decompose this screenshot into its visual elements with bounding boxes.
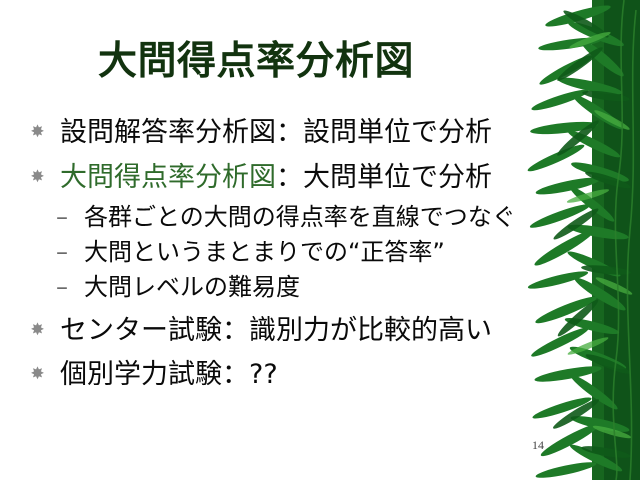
list-item: – 大問というまとまりでの“正答率”	[28, 237, 528, 267]
list-item-label: 個別学力試験：??	[60, 359, 278, 390]
bamboo-leaves-svg	[520, 0, 640, 480]
bamboo-leaves-image	[520, 0, 640, 480]
list-item: ✸ 大問得点率分析図：大問単位で分析	[28, 161, 528, 194]
star-bullet-icon: ✸	[30, 125, 45, 140]
dash-bullet-icon: –	[56, 202, 72, 232]
list-item-label: 大問レベルの難易度	[84, 273, 300, 301]
star-bullet-icon: ✸	[30, 323, 45, 338]
dash-bullet-icon: –	[56, 272, 72, 302]
slide-canvas: 大問得点率分析図 ✸ 設問解答率分析図：設問単位で分析 ✸ 大問得点率分析図：大…	[0, 0, 640, 480]
page-title: 大問得点率分析図	[98, 38, 518, 86]
star-bullet-icon: ✸	[30, 170, 45, 185]
bullet-list: ✸ 設問解答率分析図：設問単位で分析 ✸ 大問得点率分析図：大問単位で分析 – …	[28, 116, 528, 402]
list-item-label: 大問というまとまりでの“正答率”	[84, 238, 445, 266]
list-item-label: ：大問単位で分析	[276, 162, 492, 193]
list-item: ✸ 個別学力試験：??	[28, 358, 528, 391]
page-number: 14	[532, 438, 544, 453]
list-item-label: 設問解答率分析図：設問単位で分析	[60, 117, 492, 148]
list-item-label-highlight: 大問得点率分析図	[60, 162, 276, 193]
list-item: ✸ 設問解答率分析図：設問単位で分析	[28, 116, 528, 149]
list-item: – 大問レベルの難易度	[28, 272, 528, 302]
list-item: ✸ センター試験：識別力が比較的高い	[28, 314, 528, 347]
list-item: – 各群ごとの大問の得点率を直線でつなぐ	[28, 202, 528, 232]
list-item-label: 各群ごとの大問の得点率を直線でつなぐ	[84, 203, 516, 231]
list-item-label: センター試験：識別力が比較的高い	[60, 315, 492, 346]
dash-bullet-icon: –	[56, 237, 72, 267]
star-bullet-icon: ✸	[30, 367, 45, 382]
